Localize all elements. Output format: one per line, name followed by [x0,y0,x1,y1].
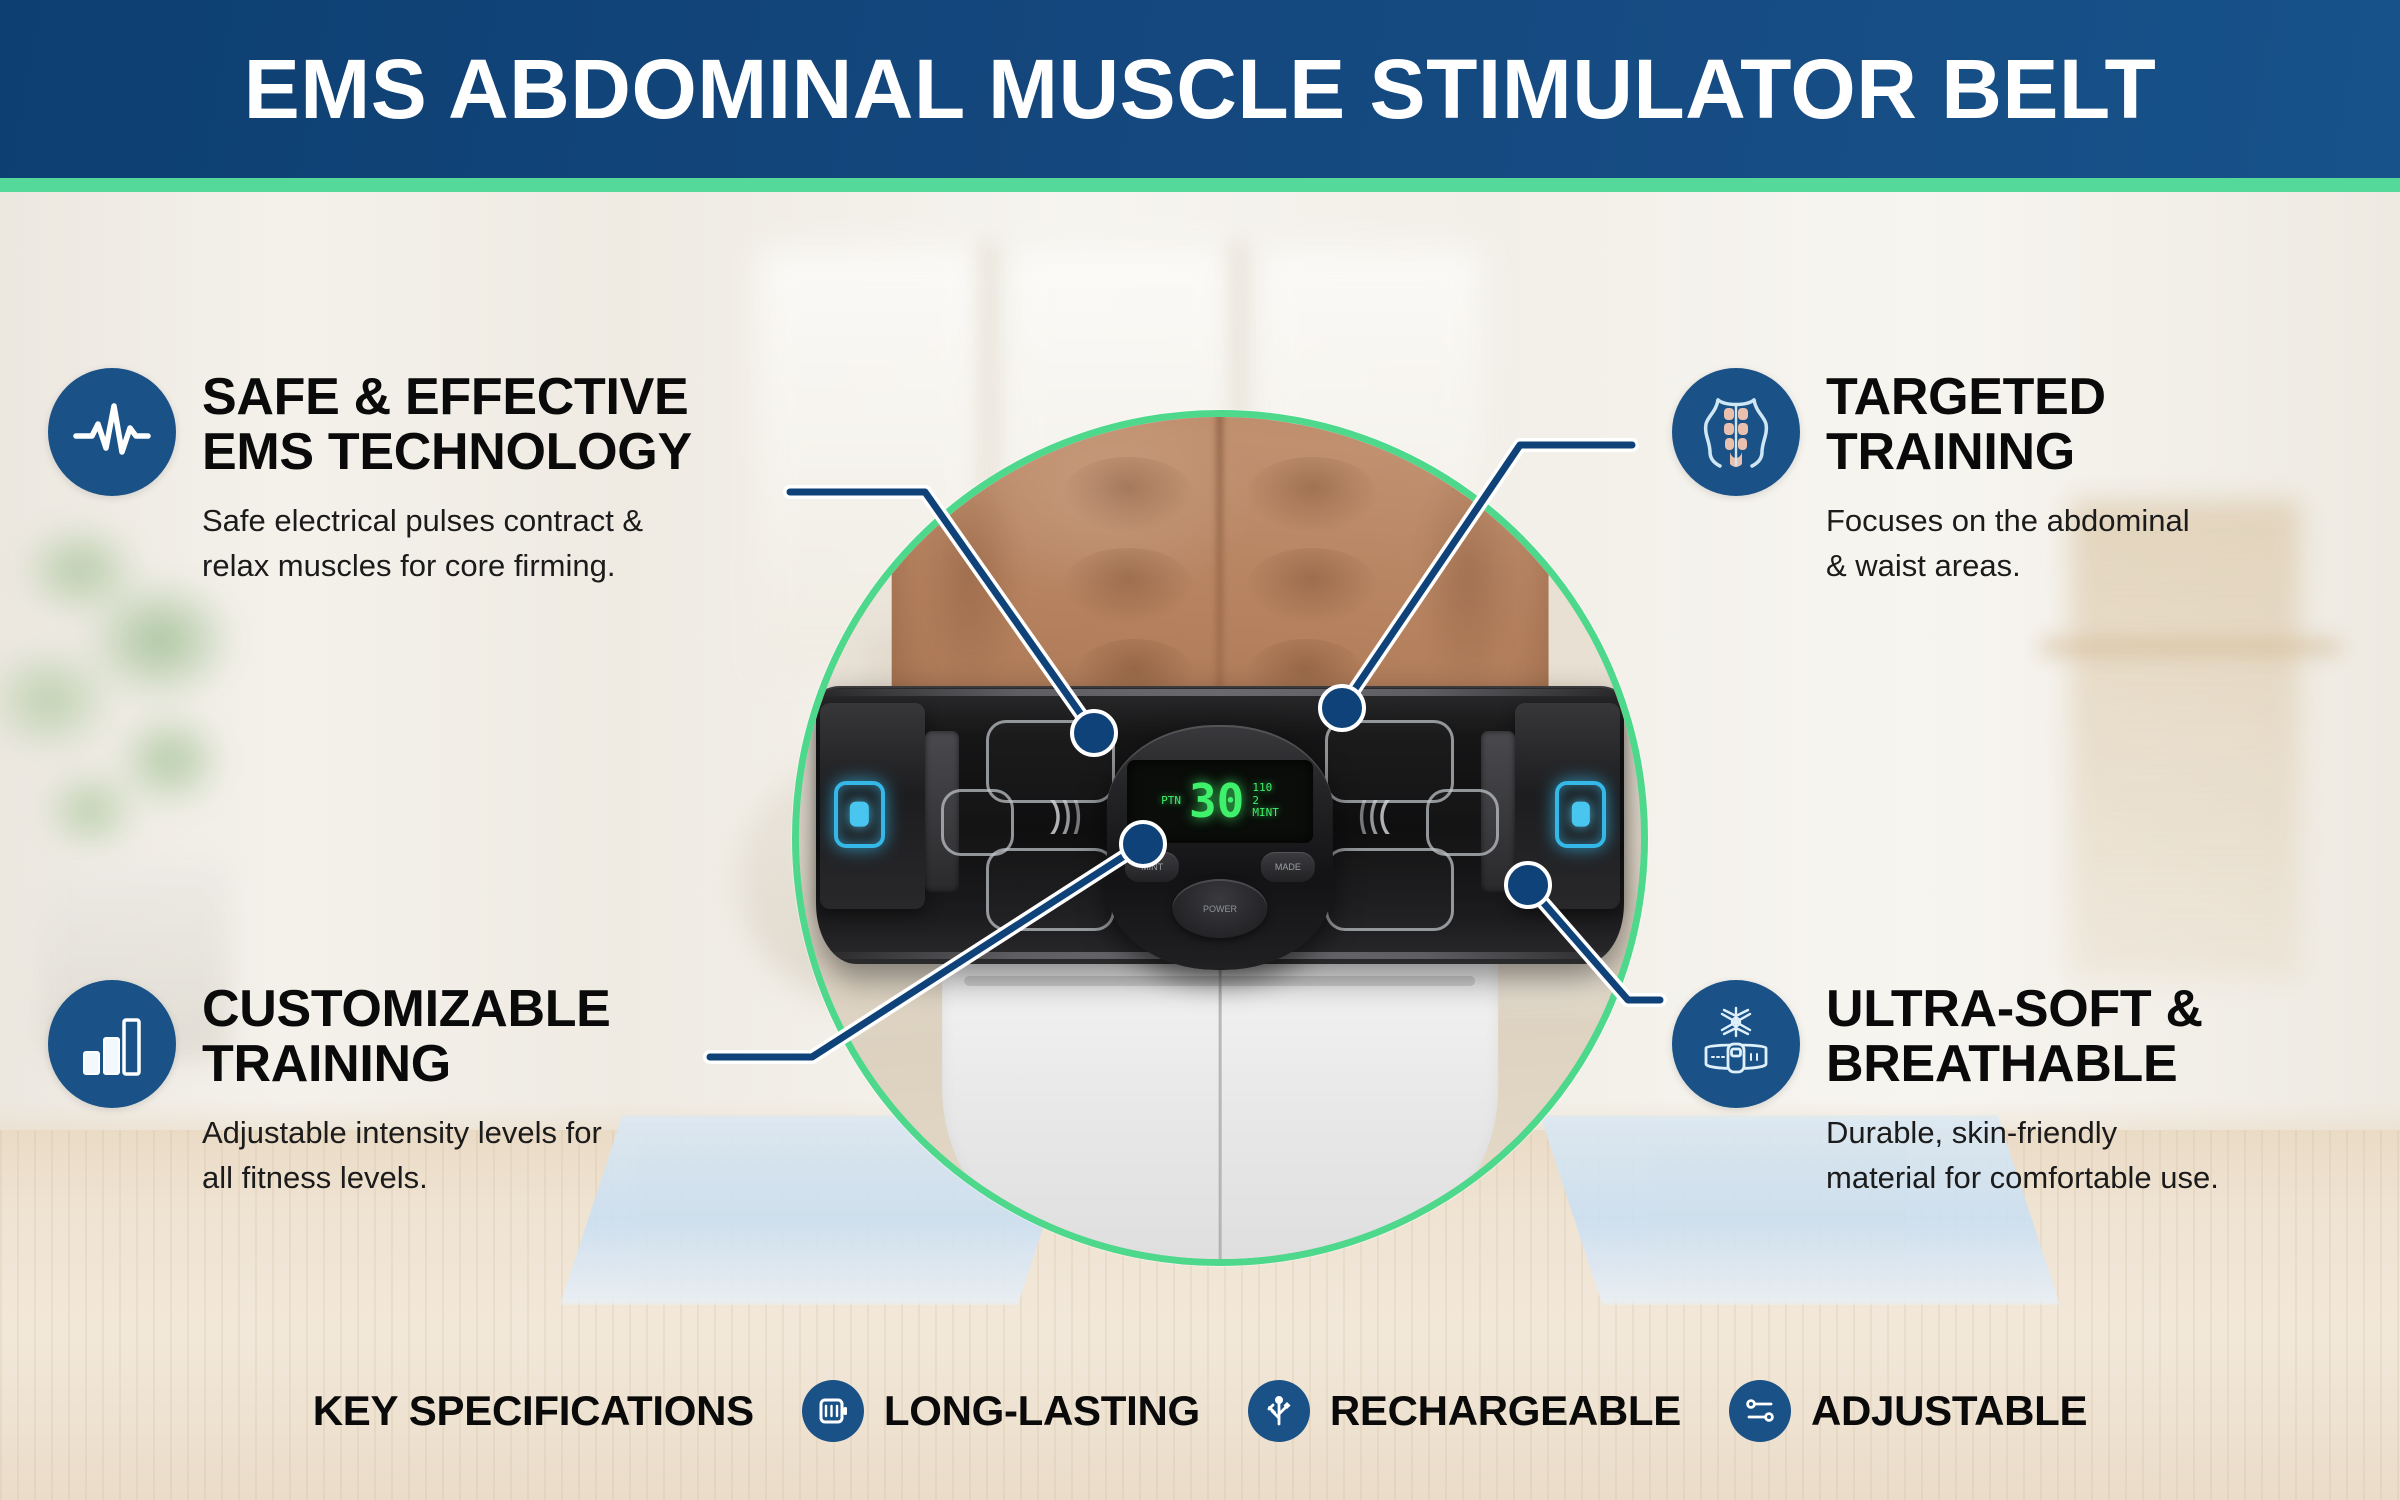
electrode-pad [941,789,1014,856]
feature-title: SAFE & EFFECTIVE EMS TECHNOLOGY [202,370,692,480]
ab-muscle [1062,548,1193,624]
control-button-left[interactable]: MINT [1125,852,1179,881]
usb-charging-icon [1248,1380,1310,1442]
electrode-pad [986,720,1115,803]
belt-edge [816,689,1624,696]
control-button-right[interactable]: MADE [1261,852,1315,881]
belt-control-unit[interactable]: PTN 30 110 2 MINT MINT MADE POWER [1107,725,1333,970]
electrode-pad [1325,720,1454,803]
key-specifications-bar: KEY SPECIFICATIONS LONG-LASTING [0,1380,2400,1442]
electrode-pad [1426,789,1499,856]
spec-long-lasting: LONG-LASTING [802,1380,1200,1442]
display-right-label-bottom: MINT [1252,807,1279,820]
ab-muscle [1246,548,1377,624]
bar-chart-icon [48,980,176,1108]
feature-title: CUSTOMIZABLE TRAINING [202,982,611,1092]
sliders-icon [1729,1380,1791,1442]
abdominal-torso-icon [1672,368,1800,496]
feature-customizable-training: CUSTOMIZABLE TRAINING Adjustable intensi… [48,980,808,1201]
key-specifications-label: KEY SPECIFICATIONS [313,1387,754,1435]
spec-label: RECHARGEABLE [1330,1387,1681,1435]
oblique-shading [1417,457,1522,689]
product-image-circle: PTN 30 110 2 MINT MINT MADE POWER [792,410,1648,1266]
ems-belt: PTN 30 110 2 MINT MINT MADE POWER [816,686,1624,964]
feature-safe-effective-ems-technology: SAFE & EFFECTIVE EMS TECHNOLOGY Safe ele… [48,368,808,589]
belt-display-screen: PTN 30 110 2 MINT [1127,760,1313,843]
spec-rechargeable: RECHARGEABLE [1248,1380,1681,1442]
feature-targeted-training: TARGETED TRAINING Focuses on the abdomin… [1672,368,2372,589]
feature-description: Adjustable intensity levels for all fitn… [202,1110,611,1201]
feature-description: Focuses on the abdominal & waist areas. [1826,498,2190,589]
header-accent-line [0,178,2400,192]
feature-description: Durable, skin-friendly material for comf… [1826,1110,2219,1201]
feature-title: ULTRA-SOFT & BREATHABLE [1826,982,2219,1092]
header-bar: EMS ABDOMINAL MUSCLE STIMULATOR BELT [0,0,2400,178]
model-briefs [942,947,1498,1266]
ab-muscle [1246,457,1377,533]
torso-midline [1217,410,1224,690]
battery-icon [802,1380,864,1442]
oblique-shading [918,457,1023,689]
background-shelf-ledge [2040,640,2340,654]
feature-description: Safe electrical pulses contract & relax … [202,498,692,589]
pulse-waveform-icon [48,368,176,496]
display-value: 30 [1189,778,1244,824]
feature-ultra-soft-breathable: ULTRA-SOFT & BREATHABLE Durable, skin-fr… [1672,980,2372,1201]
spec-label: LONG-LASTING [884,1387,1200,1435]
electrode-pad [1325,848,1454,931]
signal-wave-icon [1356,800,1410,834]
spec-label: ADJUSTABLE [1811,1387,2087,1435]
briefs-seam [1219,969,1222,1266]
feature-title: TARGETED TRAINING [1826,370,2190,480]
breathable-belt-icon [1672,980,1800,1108]
electrode-pad [986,848,1115,931]
display-right-label-mid: 2 [1252,795,1279,808]
page-title: EMS ABDOMINAL MUSCLE STIMULATOR BELT [244,47,2157,131]
spec-adjustable: ADJUSTABLE [1729,1380,2087,1442]
ab-muscle [1062,457,1193,533]
belt-side-button-left[interactable] [834,781,886,848]
power-button[interactable]: POWER [1172,879,1267,938]
belt-side-button-right[interactable] [1555,781,1607,848]
signal-wave-icon [1030,800,1084,834]
display-left-label: PTN [1161,795,1181,808]
